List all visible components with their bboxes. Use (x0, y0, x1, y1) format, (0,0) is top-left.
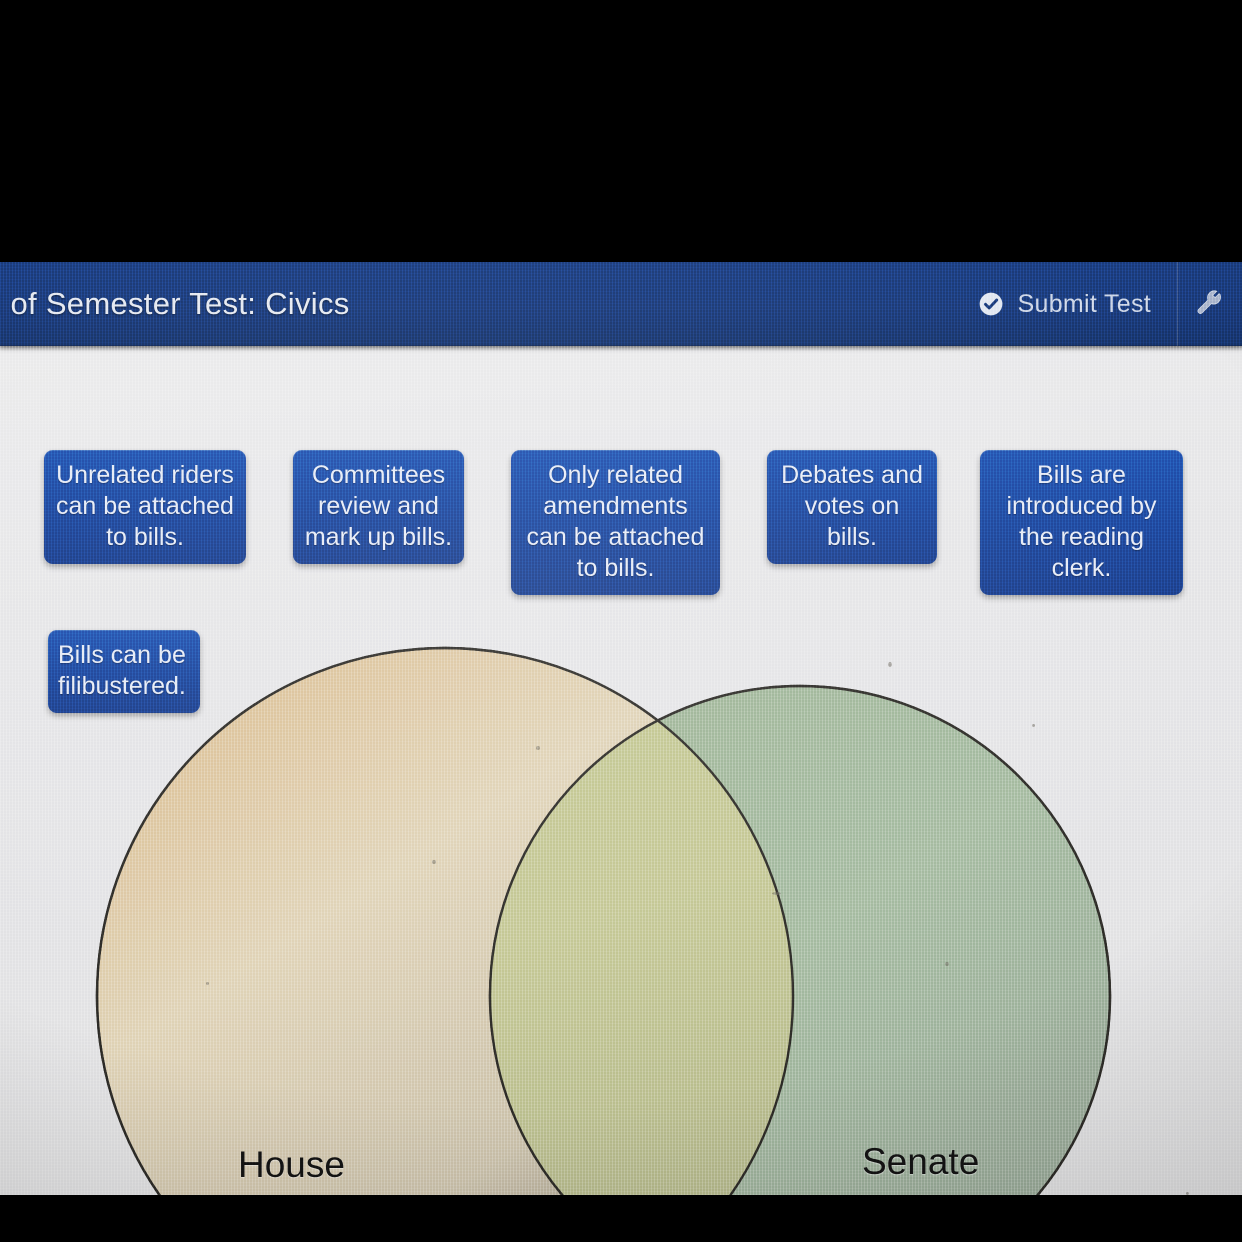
dust-speck (888, 662, 892, 667)
dust-speck (945, 962, 949, 966)
tools-button[interactable] (1178, 262, 1242, 346)
tile-debates-votes[interactable]: Debates and votes on bills. (767, 450, 937, 564)
photographed-screen: d of Semester Test: Civics Submit Test (0, 0, 1242, 1242)
app-header: d of Semester Test: Civics Submit Test (0, 262, 1242, 346)
dust-speck (1186, 1192, 1189, 1195)
monitor-viewport: d of Semester Test: Civics Submit Test (0, 262, 1242, 1195)
venn-label-senate: Senate (862, 1141, 979, 1183)
tile-unrelated-riders[interactable]: Unrelated riders can be attached to bill… (44, 450, 246, 564)
page-title: d of Semester Test: Civics (0, 286, 350, 322)
tile-committees-review[interactable]: Committees review and mark up bills. (293, 450, 464, 564)
tile-bills-introduced[interactable]: Bills are introduced by the reading cler… (980, 450, 1183, 595)
test-page-body: House Senate Unrelated riders can be att… (0, 346, 1242, 1195)
dust-speck (1032, 724, 1035, 727)
dust-speck (432, 860, 436, 864)
check-circle-icon (978, 291, 1004, 317)
submit-test-label: Submit Test (1018, 290, 1151, 319)
dust-speck (772, 892, 781, 895)
tile-bills-filibustered[interactable]: Bills can be filibustered. (48, 630, 200, 713)
submit-test-button[interactable]: Submit Test (958, 262, 1178, 346)
bottom-black-band (0, 1195, 1242, 1242)
tile-only-related-amendments[interactable]: Only related amendments can be attached … (511, 450, 720, 595)
dust-speck (206, 982, 209, 985)
top-black-band (0, 0, 1242, 262)
wrench-icon (1195, 289, 1225, 319)
venn-label-house: House (238, 1144, 345, 1186)
dust-speck (536, 746, 540, 750)
